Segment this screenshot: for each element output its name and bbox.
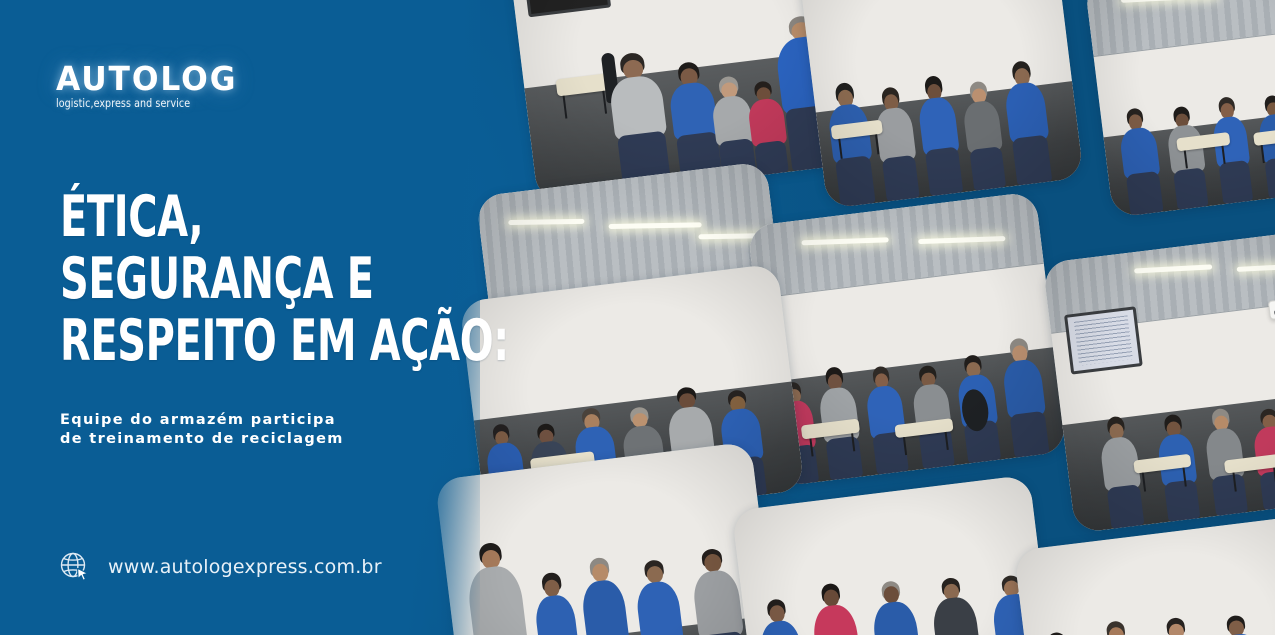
left-content-panel: AUTOLOG logistic,express and service ÉTI… (0, 0, 470, 635)
subheadline: Equipe do armazém participa de treinamen… (60, 411, 460, 449)
collage-photo-9 (731, 475, 1056, 635)
promo-banner: AUTOLOG logistic,express and service ÉTI… (0, 0, 1275, 635)
subheadline-line-2: de treinamento de reciclagem (60, 430, 460, 449)
headline-line-1: ÉTICA, (60, 186, 354, 248)
collage-photo-3 (1084, 0, 1275, 218)
brand-logo: AUTOLOG logistic,express and service (56, 62, 286, 110)
website-footer[interactable]: www.autologexpress.com.br (58, 550, 382, 584)
subheadline-line-1: Equipe do armazém participa (60, 411, 460, 430)
logo-tagline: logistic,express and service (56, 97, 268, 110)
logo-wordmark: AUTOLOG (56, 62, 275, 95)
headline-line-2: SEGURANÇA E (60, 248, 354, 310)
collage-photo-6 (1043, 227, 1275, 534)
collage-photo-2 (798, 0, 1084, 209)
collage-photo-10 (1014, 515, 1275, 635)
website-url[interactable]: www.autologexpress.com.br (108, 556, 382, 578)
globe-cursor-icon (58, 550, 92, 584)
headline-line-3: RESPEITO EM AÇÃO: (60, 310, 354, 372)
headline: ÉTICA, SEGURANÇA E RESPEITO EM AÇÃO: (60, 186, 480, 372)
